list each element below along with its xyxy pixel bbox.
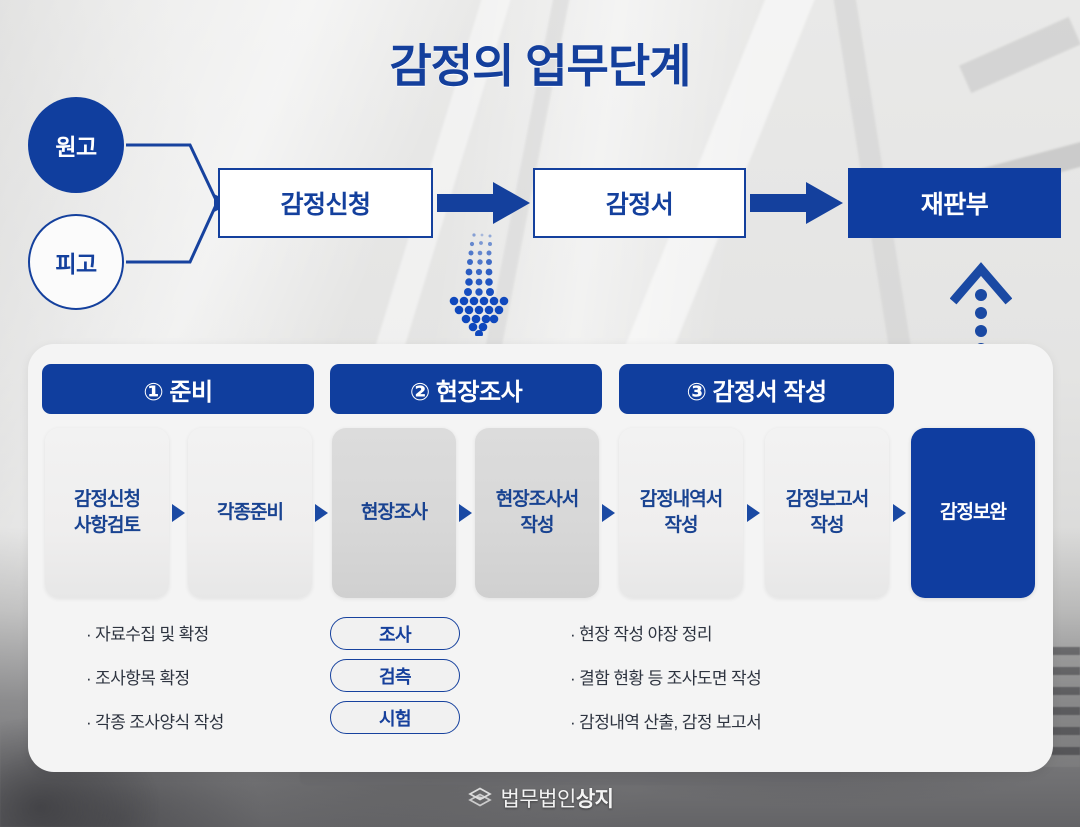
section-header-site-survey: ② 현장조사 — [330, 364, 602, 414]
infographic-canvas: 감정의 업무단계 원고 피고 감정신청 감정서 재판부 — [0, 0, 1080, 827]
party-circle-defendant: 피고 — [28, 214, 124, 310]
step-arrow-icon — [459, 504, 472, 522]
flow-box-label: 감정서 — [606, 185, 674, 221]
step-card: 각종준비 — [188, 428, 312, 598]
bullet-item: · 현장 작성 야장 정리 — [570, 620, 761, 645]
bullet-item: · 결함 현황 등 조사도면 작성 — [570, 664, 761, 689]
flow-box-court: 재판부 — [848, 168, 1061, 238]
footer-brand-prefix: 법무법인 — [501, 788, 576, 811]
sangji-diamond-logo-icon — [467, 785, 493, 811]
step-card-label: 각종준비 — [217, 500, 283, 526]
right-arrow-icon — [750, 182, 843, 224]
page-title: 감정의 업무단계 — [0, 30, 1080, 96]
bullet-item: · 감정내역 산출, 감정 보고서 — [570, 708, 761, 733]
footer-logo: 법무법인상지 — [0, 783, 1080, 813]
pill-label: 조사 — [379, 621, 411, 647]
pill-label: 검측 — [379, 663, 411, 689]
step-card: 감정보고서작성 — [765, 428, 889, 598]
section-header-label: ② 현장조사 — [410, 372, 522, 407]
right-arrow-icon — [437, 182, 530, 224]
survey-pill-group: 조사 검측 시험 — [330, 617, 460, 743]
party-label: 원고 — [55, 128, 96, 162]
section-header-label: ① 준비 — [143, 372, 212, 407]
pill-survey[interactable]: 조사 — [330, 617, 460, 650]
step-card-label: 감정보완 — [940, 500, 1006, 526]
step-arrow-icon — [602, 504, 615, 522]
step-card-label: 현장조사 — [361, 500, 427, 526]
step-card: 감정보완 — [911, 428, 1035, 598]
section-header-preparation: ① 준비 — [42, 364, 314, 414]
section-header-report-writing: ③ 감정서 작성 — [619, 364, 894, 414]
flow-box-label: 재판부 — [921, 185, 989, 221]
step-card: 현장조사 — [332, 428, 456, 598]
section-header-label: ③ 감정서 작성 — [686, 372, 826, 407]
step-card-label: 감정내역서작성 — [640, 487, 722, 538]
step-card-label: 감정신청사항검토 — [74, 487, 140, 538]
step-arrow-icon — [172, 504, 185, 522]
bullet-list-preparation: · 자료수집 및 확정 · 조사항목 확정 · 각종 조사양식 작성 — [86, 620, 224, 752]
pill-measurement[interactable]: 검측 — [330, 659, 460, 692]
step-card: 감정신청사항검토 — [45, 428, 169, 598]
flow-box-appraisal-report: 감정서 — [533, 168, 746, 238]
step-card: 현장조사서작성 — [475, 428, 599, 598]
step-arrow-icon — [893, 504, 906, 522]
step-card-label: 현장조사서작성 — [496, 487, 578, 538]
flow-box-appraisal-request: 감정신청 — [218, 168, 433, 238]
footer-brand-name: 상지 — [576, 788, 614, 811]
party-connector-line — [120, 100, 230, 280]
pill-testing[interactable]: 시험 — [330, 701, 460, 734]
bullet-item: · 각종 조사양식 작성 — [86, 708, 224, 733]
halftone-down-arrow-icon — [444, 231, 520, 336]
pill-label: 시험 — [379, 705, 411, 731]
party-circle-plaintiff: 원고 — [28, 97, 124, 193]
step-arrow-icon — [315, 504, 328, 522]
bullet-item: · 자료수집 및 확정 — [86, 620, 224, 645]
flow-box-label: 감정신청 — [280, 185, 370, 221]
step-card-label: 감정보고서작성 — [786, 487, 868, 538]
footer-brand-text: 법무법인상지 — [501, 783, 614, 813]
step-arrow-icon — [747, 504, 760, 522]
bullet-item: · 조사항목 확정 — [86, 664, 224, 689]
bullet-list-report: · 현장 작성 야장 정리 · 결함 현황 등 조사도면 작성 · 감정내역 산… — [570, 620, 761, 752]
party-label: 피고 — [55, 245, 96, 279]
step-card: 감정내역서작성 — [619, 428, 743, 598]
